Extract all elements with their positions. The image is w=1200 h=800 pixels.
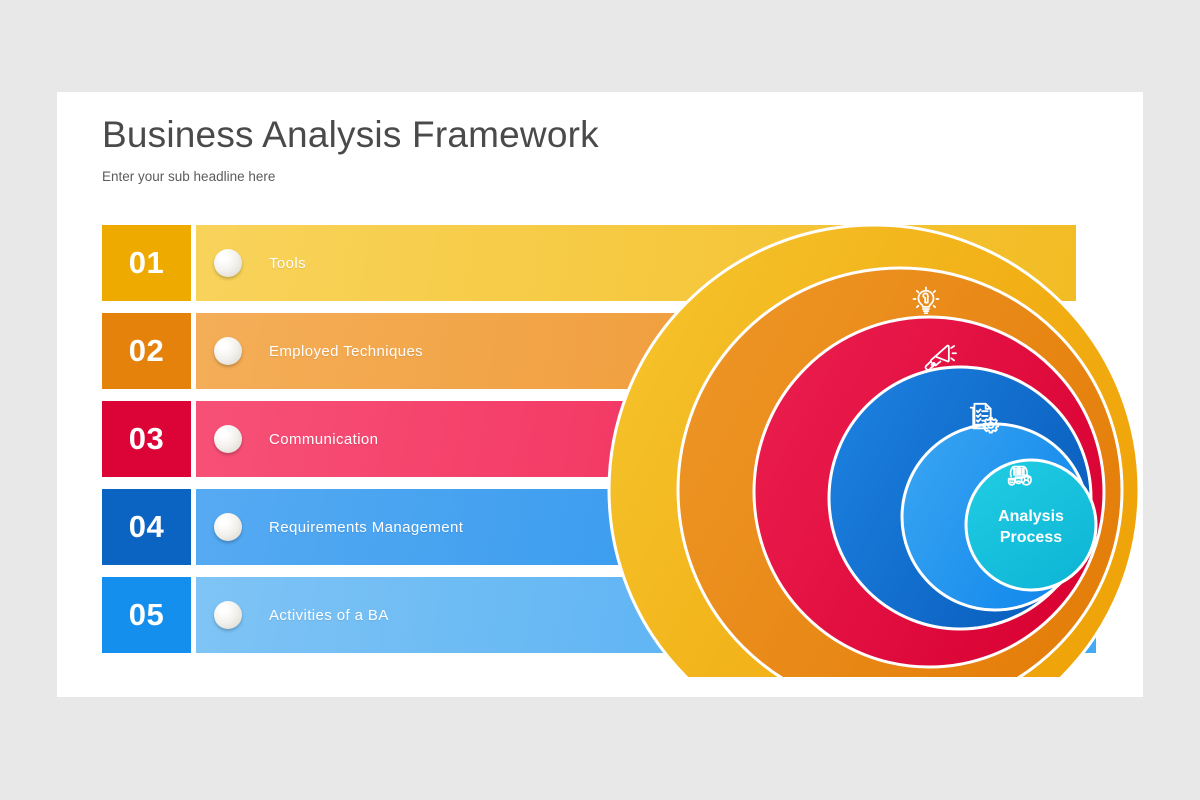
- row-number-01: 01: [129, 245, 164, 281]
- row-number-04: 04: [129, 509, 164, 545]
- row-badge-05[interactable]: 05: [102, 577, 191, 653]
- gear-tools-icon[interactable]: [845, 204, 868, 226]
- header: Business Analysis Framework Enter your s…: [102, 114, 599, 184]
- row-bullet-01: [214, 249, 242, 277]
- slide-canvas: Business Analysis Framework Enter your s…: [57, 92, 1143, 697]
- row-number-05: 05: [129, 597, 164, 633]
- row-bullet-04: [214, 513, 242, 541]
- framework-rows: 01 Tools 02 Employed Techniques 03 Commu…: [102, 225, 1143, 665]
- row-bar-04[interactable]: Requirements Management: [196, 489, 1096, 565]
- row-bar-05[interactable]: Activities of a BA: [196, 577, 1096, 653]
- row-badge-04[interactable]: 04: [102, 489, 191, 565]
- row-bullet-03: [214, 425, 242, 453]
- row-label-05: Activities of a BA: [269, 607, 389, 624]
- row-number-02: 02: [129, 333, 164, 369]
- row-badge-02[interactable]: 02: [102, 313, 191, 389]
- row-bar-03[interactable]: Communication: [196, 401, 1076, 477]
- page-title: Business Analysis Framework: [102, 114, 599, 157]
- row-bar-02[interactable]: Employed Techniques: [196, 313, 1046, 389]
- page-subtitle: Enter your sub headline here: [102, 169, 599, 184]
- row-label-04: Requirements Management: [269, 519, 463, 536]
- row-badge-01[interactable]: 01: [102, 225, 191, 301]
- row-bar-01[interactable]: Tools: [196, 225, 1076, 301]
- row-badge-03[interactable]: 03: [102, 401, 191, 477]
- row-bullet-05: [214, 601, 242, 629]
- row-label-01: Tools: [269, 255, 306, 272]
- row-bullet-02: [214, 337, 242, 365]
- row-label-02: Employed Techniques: [269, 343, 423, 360]
- row-label-03: Communication: [269, 431, 378, 448]
- row-number-03: 03: [129, 421, 164, 457]
